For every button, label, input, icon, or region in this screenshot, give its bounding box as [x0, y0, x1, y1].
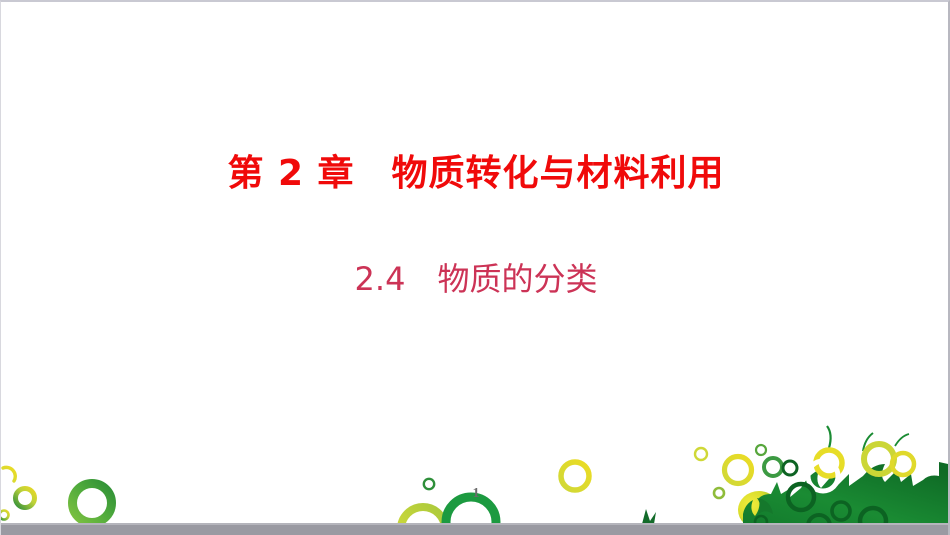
window-bottom-bar-highlight: [1, 523, 950, 525]
slide-canvas: 第 2 章 物质转化与材料利用 2.4 物质的分类 1: [0, 0, 950, 535]
page-number: 1: [1, 486, 950, 502]
maple-leaf-shape: [743, 426, 950, 535]
slide-subtitle: 2.4 物质的分类: [1, 260, 950, 298]
slide-title: 第 2 章 物质转化与材料利用: [1, 153, 950, 194]
